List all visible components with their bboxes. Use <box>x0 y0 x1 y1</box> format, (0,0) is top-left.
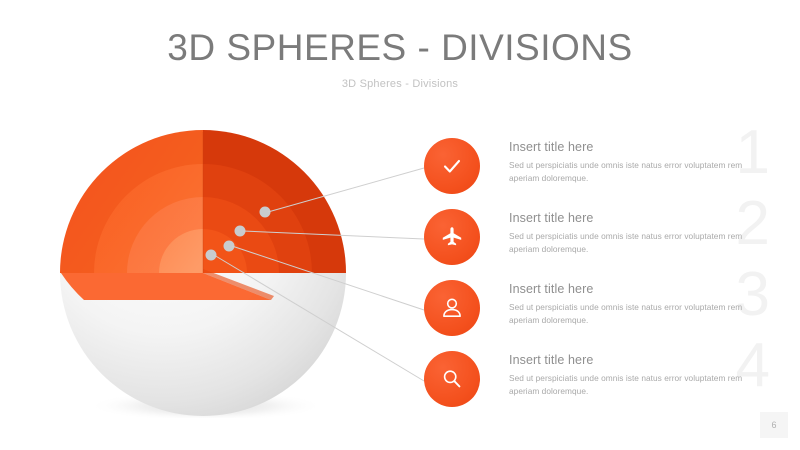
callout-dot-4 <box>206 250 217 261</box>
item-title: Insert title here <box>509 211 759 225</box>
item-icon-badge[interactable] <box>424 209 480 265</box>
list-item[interactable]: 4 Insert title here Sed ut perspiciatis … <box>424 351 764 422</box>
item-text-block: Insert title here Sed ut perspiciatis un… <box>509 353 759 398</box>
airplane-icon <box>439 224 465 250</box>
item-description: Sed ut perspiciatis unde omnis iste natu… <box>509 301 759 327</box>
callout-dot-1 <box>260 207 271 218</box>
item-icon-badge[interactable] <box>424 138 480 194</box>
page-title: 3D SPHERES - DIVISIONS <box>0 27 800 69</box>
callout-dot-2 <box>235 226 246 237</box>
item-text-block: Insert title here Sed ut perspiciatis un… <box>509 211 759 256</box>
person-icon <box>439 295 465 321</box>
cutaway-sphere-diagram <box>58 128 348 418</box>
search-icon <box>439 366 465 392</box>
list-item[interactable]: 1 Insert title here Sed ut perspiciatis … <box>424 138 764 209</box>
item-icon-badge[interactable] <box>424 280 480 336</box>
item-title: Insert title here <box>509 353 759 367</box>
item-icon-badge[interactable] <box>424 351 480 407</box>
items-list: 1 Insert title here Sed ut perspiciatis … <box>424 138 764 422</box>
list-item[interactable]: 2 Insert title here Sed ut perspiciatis … <box>424 209 764 280</box>
page-number: 6 <box>760 412 788 438</box>
item-title: Insert title here <box>509 140 759 154</box>
item-title: Insert title here <box>509 282 759 296</box>
item-description: Sed ut perspiciatis unde omnis iste natu… <box>509 230 759 256</box>
sphere-cut-left-face <box>60 130 203 273</box>
item-description: Sed ut perspiciatis unde omnis iste natu… <box>509 159 759 185</box>
check-icon <box>439 153 465 179</box>
page-subtitle: 3D Spheres - Divisions <box>0 78 800 90</box>
item-text-block: Insert title here Sed ut perspiciatis un… <box>509 282 759 327</box>
slide: 3D SPHERES - DIVISIONS 3D Spheres - Divi… <box>0 0 800 450</box>
list-item[interactable]: 3 Insert title here Sed ut perspiciatis … <box>424 280 764 351</box>
item-text-block: Insert title here Sed ut perspiciatis un… <box>509 140 759 185</box>
sphere-cut-right-face <box>203 130 346 273</box>
item-description: Sed ut perspiciatis unde omnis iste natu… <box>509 372 759 398</box>
callout-dot-3 <box>224 241 235 252</box>
